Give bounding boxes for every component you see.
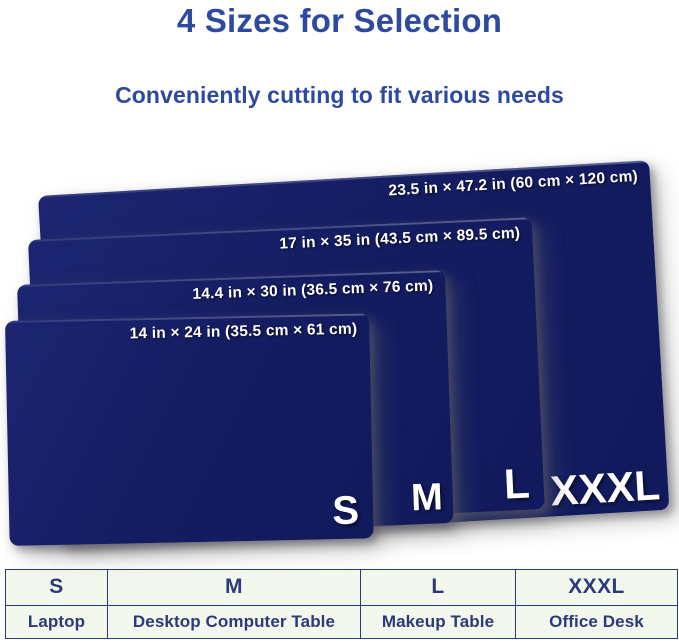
mat-s-dimension-label: 14 in × 24 in (35.5 cm × 61 cm) — [129, 321, 357, 344]
mat-s: 14 in × 24 in (35.5 cm × 61 cm) S — [5, 313, 374, 546]
size-comparison-table: S M L XXXL Laptop Desktop Computer Table… — [5, 569, 678, 639]
mat-l-dimension-label: 17 in × 35 in (43.5 cm × 89.5 cm) — [279, 225, 521, 254]
mat-xxxl-size-letter: XXXL — [549, 464, 661, 512]
table-header-xxxl: XXXL — [516, 570, 678, 606]
mat-xxxl-dimension-label: 23.5 in × 47.2 in (60 cm × 120 cm) — [388, 168, 638, 201]
mat-m-size-letter: M — [410, 478, 443, 517]
table-cell-use-xxxl: Office Desk — [516, 605, 678, 638]
table-row-sizes: S M L XXXL — [6, 570, 678, 606]
table-cell-use-s: Laptop — [6, 605, 108, 638]
table-cell-use-l: Makeup Table — [361, 605, 516, 638]
table-row-uses: Laptop Desktop Computer Table Makeup Tab… — [6, 605, 678, 638]
mat-s-size-letter: S — [332, 491, 360, 532]
mat-l-size-letter: L — [503, 463, 531, 506]
table-header-l: L — [361, 570, 516, 606]
mat-m-dimension-label: 14.4 in × 30 in (36.5 cm × 76 cm) — [192, 277, 433, 303]
table-header-m: M — [108, 570, 361, 606]
table-header-s: S — [6, 570, 108, 606]
mat-size-stack: 23.5 in × 47.2 in (60 cm × 120 cm) XXXL … — [0, 0, 679, 565]
table-cell-use-m: Desktop Computer Table — [108, 605, 361, 638]
